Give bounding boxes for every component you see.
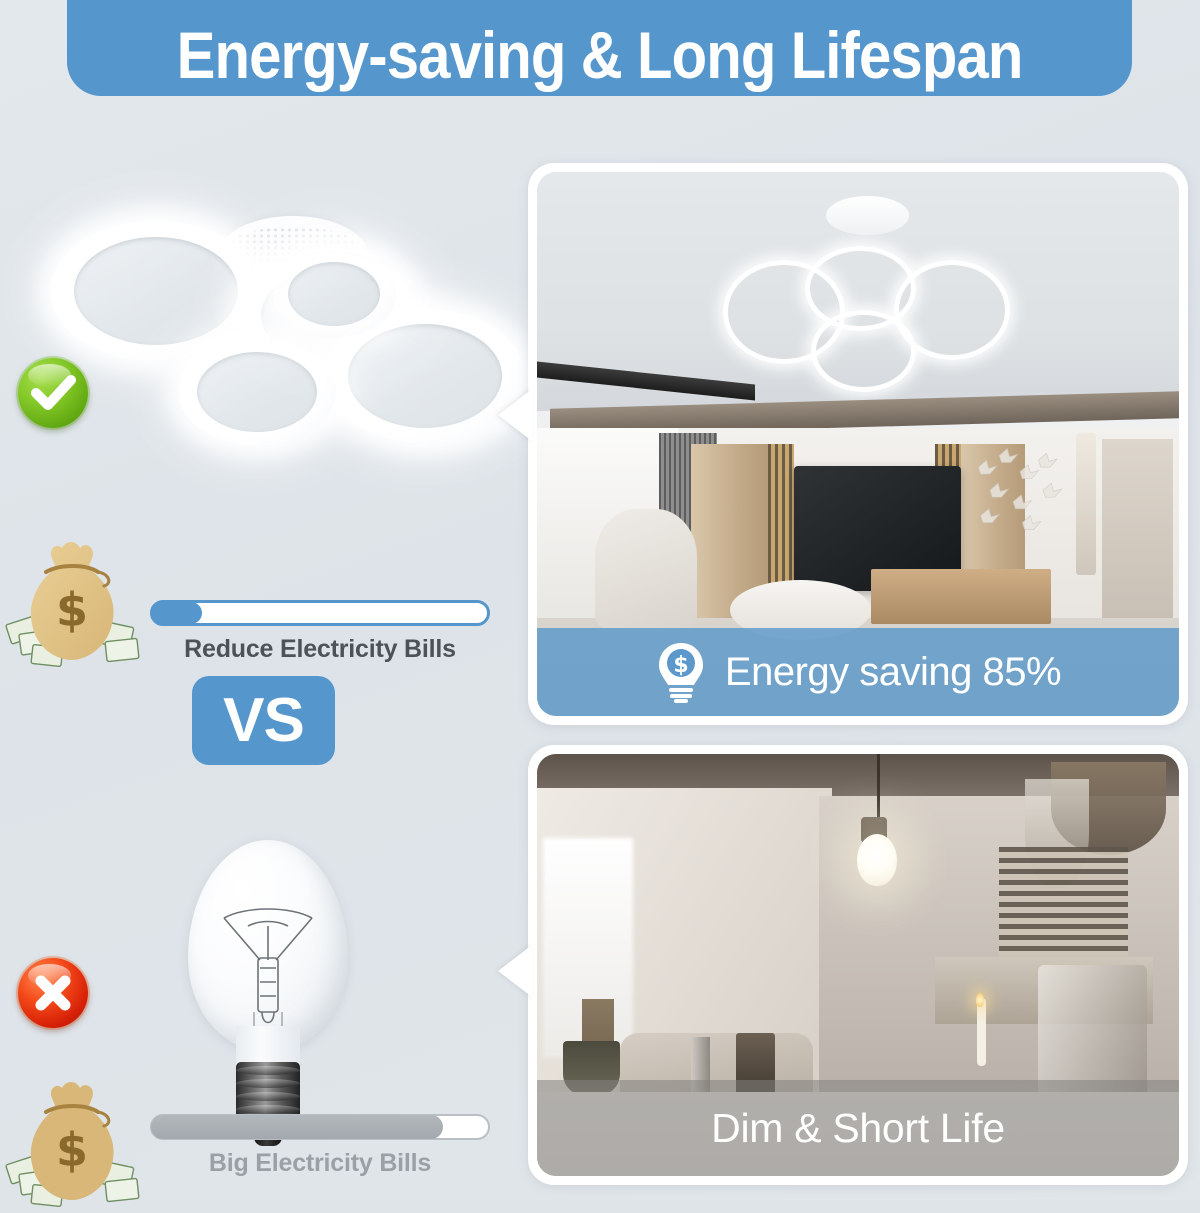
- bird-wall-art: [954, 444, 1095, 536]
- left-arrow-pointer-icon: [498, 945, 532, 997]
- vs-badge: VS: [192, 676, 335, 765]
- reduce-bills-label: Reduce Electricity Bills: [150, 635, 490, 664]
- led-ring-ceiling-light: [40, 210, 510, 490]
- pendant-cord: [877, 754, 880, 822]
- incandescent-room-photo-panel: Dim & Short Life: [528, 745, 1188, 1185]
- energy-saving-text: Energy saving 85%: [725, 650, 1061, 695]
- page-title: Energy-saving & Long Lifespan: [177, 22, 1023, 88]
- red-cross-icon: [18, 958, 88, 1028]
- progress-fill: [151, 1115, 443, 1139]
- header-banner: Energy-saving & Long Lifespan: [67, 0, 1132, 96]
- led-room-photo: $ Energy saving 85%: [537, 172, 1179, 716]
- reduce-bills-bar: Reduce Electricity Bills: [150, 600, 490, 664]
- svg-text:$: $: [56, 1123, 88, 1177]
- svg-text:$: $: [673, 653, 688, 678]
- big-bills-label: Big Electricity Bills: [150, 1149, 490, 1178]
- big-bills-bar: Big Electricity Bills: [150, 1114, 490, 1178]
- incandescent-bulb-icon: [178, 840, 358, 1140]
- hanging-bulb-icon: [857, 834, 897, 886]
- led-ring: [178, 338, 336, 446]
- green-check-icon: [18, 358, 88, 428]
- infographic-canvas: Energy-saving & Long Lifespan: [0, 0, 1200, 1200]
- left-arrow-pointer-icon: [498, 389, 532, 441]
- dim-short-life-caption: Dim & Short Life: [537, 1080, 1179, 1176]
- energy-saving-caption: $ Energy saving 85%: [537, 628, 1179, 716]
- money-bag-icon: $: [2, 1068, 152, 1208]
- progress-fill: [152, 602, 202, 624]
- comparison-column: $ Reduce Electricity Bills VS: [0, 150, 520, 1200]
- progress-track: [150, 600, 490, 626]
- svg-text:$: $: [56, 583, 88, 637]
- ceiling-light-in-room: [717, 199, 1012, 379]
- led-room-photo-panel: $ Energy saving 85%: [528, 163, 1188, 725]
- dim-short-life-text: Dim & Short Life: [711, 1105, 1005, 1152]
- vs-label: VS: [223, 690, 304, 752]
- money-bag-icon: $: [2, 528, 152, 668]
- progress-track: [150, 1114, 490, 1140]
- bulb-dollar-icon: $: [655, 641, 707, 703]
- led-ring: [272, 250, 396, 338]
- incandescent-room-photo: Dim & Short Life: [537, 754, 1179, 1176]
